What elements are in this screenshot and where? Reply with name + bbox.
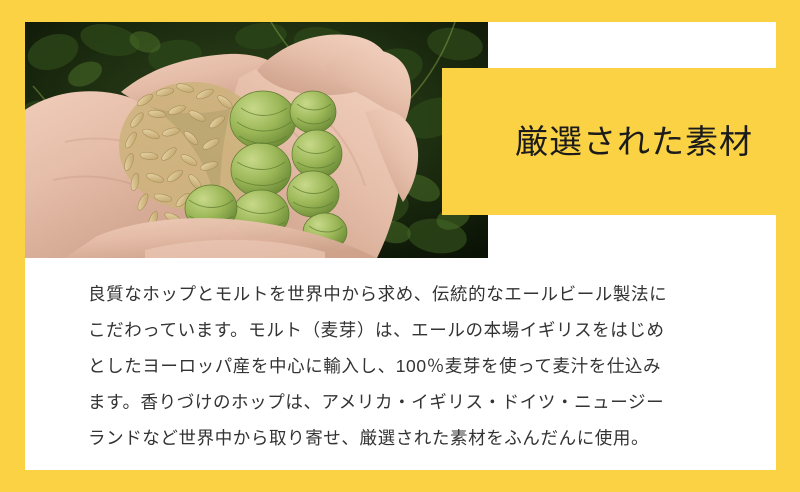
body-line: こだわっています。モルト（麦芽）は、エールの本場イギリスをはじめ <box>88 312 736 348</box>
section-heading-block: 厳選された素材 <box>442 68 800 215</box>
page-root: 厳選された素材 良質なホップとモルトを世界中から求め、伝統的なエールビール製法に… <box>0 0 800 492</box>
hero-photo <box>25 22 488 258</box>
body-line: としたヨーロッパ産を中心に輸入し、100％麦芽を使って麦汁を仕込み <box>88 348 736 384</box>
section-heading: 厳選された素材 <box>515 125 753 158</box>
hero-photo-illustration <box>25 22 488 258</box>
body-line: ランドなど世界中から取り寄せ、厳選された素材をふんだんに使用。 <box>88 420 736 456</box>
body-text: 良質なホップとモルトを世界中から求め、伝統的なエールビール製法に こだわっていま… <box>88 276 736 456</box>
body-paragraph: 良質なホップとモルトを世界中から求め、伝統的なエールビール製法に こだわっていま… <box>88 276 736 456</box>
body-line: 良質なホップとモルトを世界中から求め、伝統的なエールビール製法に <box>88 276 736 312</box>
body-line: ます。香りづけのホップは、アメリカ・イギリス・ドイツ・ニュージー <box>88 384 736 420</box>
